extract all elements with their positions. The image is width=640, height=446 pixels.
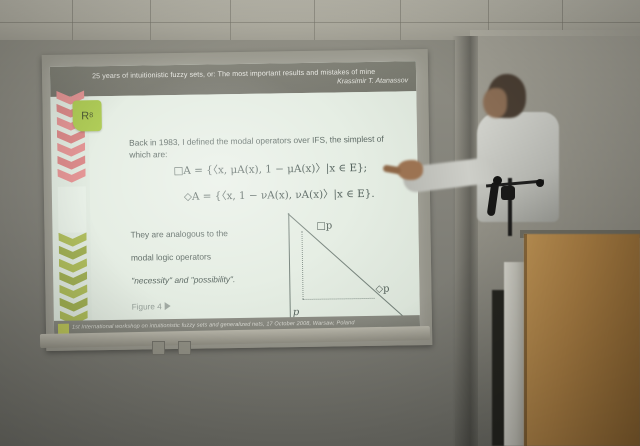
modal-operator-triangle-diagram: □p ◇p p bbox=[274, 209, 408, 329]
microphone-joint bbox=[501, 186, 515, 200]
badge-label: R bbox=[81, 110, 89, 122]
triangle-hypotenuse bbox=[288, 213, 405, 318]
play-arrow-icon bbox=[165, 302, 171, 310]
slide-analogy-paragraph: They are analogous to the modal logic op… bbox=[130, 216, 261, 299]
triangle-left-edge bbox=[288, 213, 291, 319]
podium-front-edge bbox=[524, 234, 527, 446]
dotted-horizontal-guide bbox=[303, 298, 375, 300]
formula-possibility: ◇A = {〈x, 1 − νA(x), νA(x)〉|x ∈ E}. bbox=[184, 185, 375, 203]
slide-title: 25 years of intuitionistic fuzzy sets, o… bbox=[92, 68, 375, 80]
projection-screen: 25 years of intuitionistic fuzzy sets, o… bbox=[42, 49, 433, 351]
podium-side-panel bbox=[504, 262, 526, 446]
presentation-slide: 25 years of intuitionistic fuzzy sets, o… bbox=[50, 61, 420, 339]
slide-section-badge: R8 bbox=[72, 100, 101, 131]
badge-subscript: 8 bbox=[89, 112, 93, 119]
slide-intro-paragraph: Back in 1983, I defined the modal operat… bbox=[129, 133, 399, 160]
analogy-line-3: "necessity" and "possibility". bbox=[131, 273, 261, 287]
podium bbox=[524, 234, 640, 446]
dotted-vertical-guide bbox=[301, 231, 303, 299]
figure-caption-text: Figure 4 bbox=[132, 302, 162, 311]
formula-necessity: □A = {〈x, μA(x), 1 − μA(x)〉|x ∈ E}; bbox=[173, 159, 367, 177]
analogy-line-2: modal logic operators bbox=[131, 250, 261, 264]
microphone-head-right bbox=[536, 179, 544, 187]
screen-clip-left bbox=[152, 341, 165, 355]
presenter-face bbox=[483, 88, 507, 118]
figure-caption: Figure 4 bbox=[132, 302, 171, 312]
diagram-label-necessity: □p bbox=[316, 221, 332, 232]
lecture-room-photo: 25 years of intuitionistic fuzzy sets, o… bbox=[0, 0, 640, 446]
microphone-head-left bbox=[493, 176, 502, 185]
slide-author: Krassimir T. Atanassov bbox=[337, 77, 408, 85]
diagram-label-possibility: ◇p bbox=[375, 284, 389, 295]
analogy-line-1: They are analogous to the bbox=[130, 227, 260, 241]
screen-clip-right bbox=[178, 341, 191, 355]
